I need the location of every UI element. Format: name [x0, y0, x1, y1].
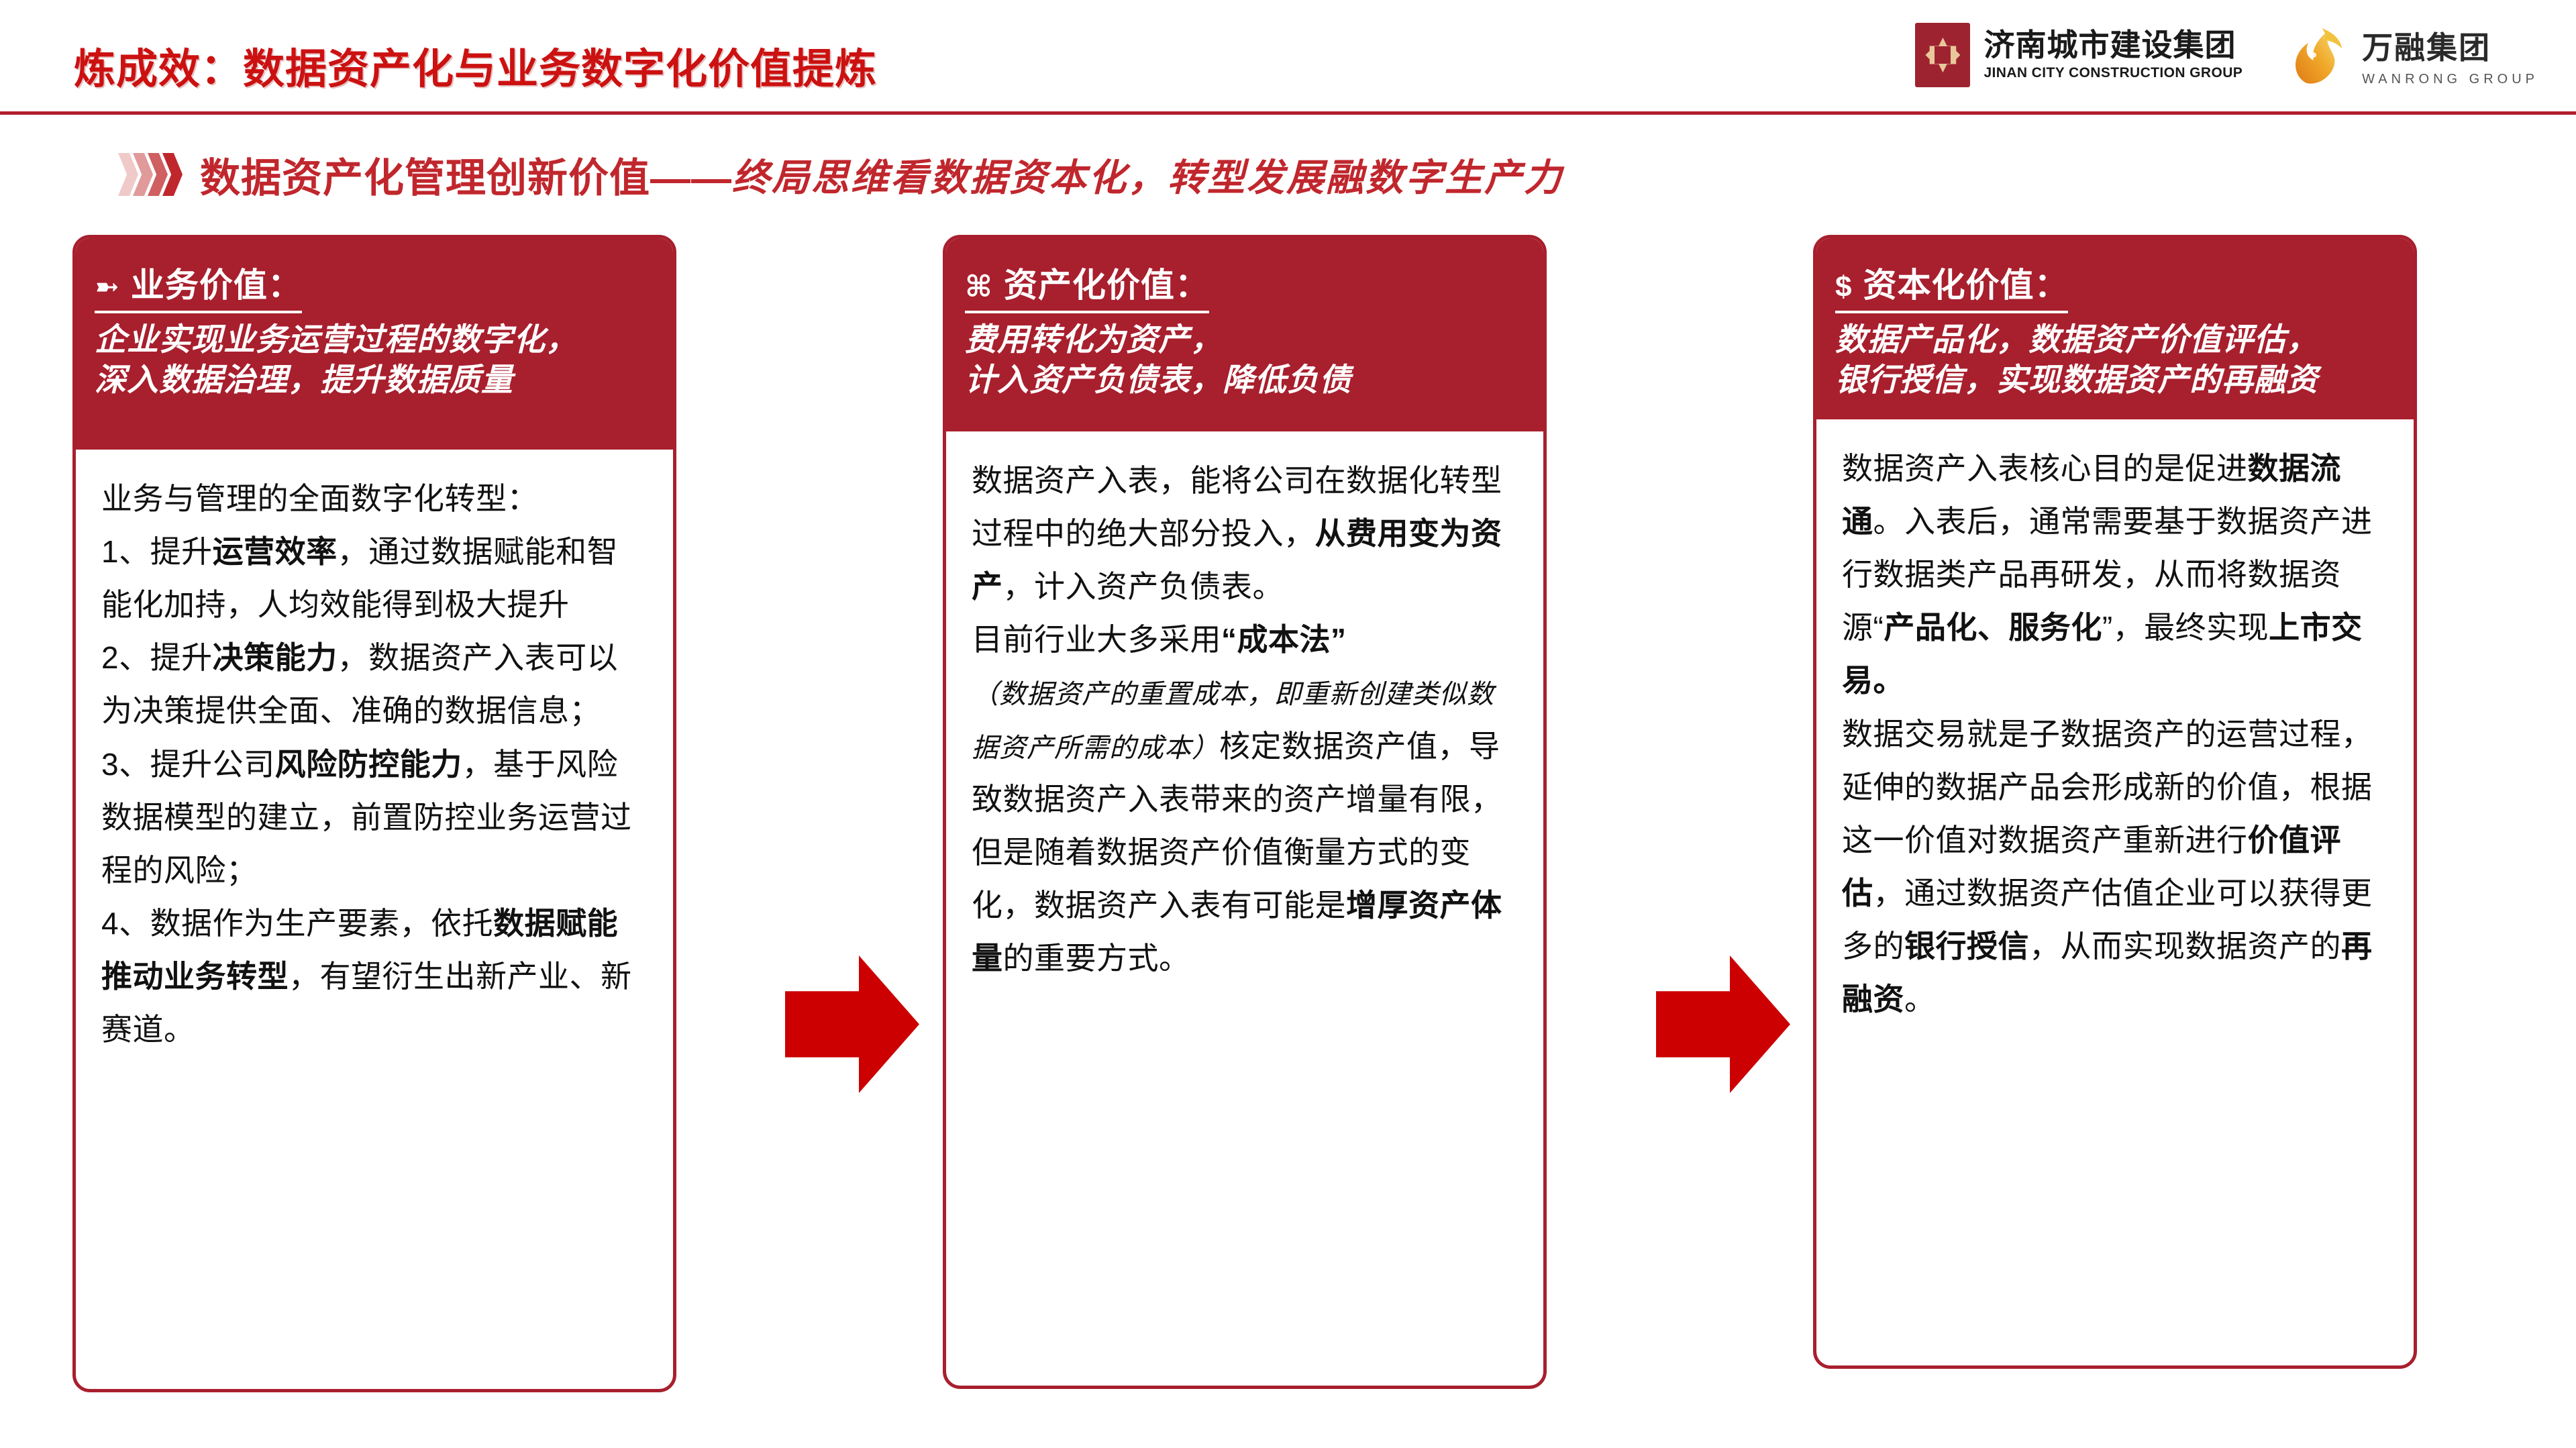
- card-body-capitalization-value: 数据资产入表核心目的是促进数据流通。入表后，通常需要基于数据资产进行数据类产品再…: [1816, 419, 2414, 1039]
- header-divider: [0, 111, 2576, 115]
- card-subtitle-business-value: 企业实现业务运营过程的数字化，深入数据治理，提升数据质量: [95, 320, 654, 401]
- slide-header: 炼成效：数据资产化与业务数字化价值提炼 济南城市建设集团 JINAN CITY …: [0, 0, 2576, 113]
- emphasis-text: 银行授信: [1904, 929, 2029, 964]
- page-title: 炼成效：数据资产化与业务数字化价值提炼: [74, 35, 877, 95]
- card-body-business-value: 业务与管理的全面数字化转型：1、提升运营效率，通过数据赋能和智能化加持，人均效能…: [76, 450, 673, 1070]
- emphasis-text: 数据赋能推动业务转型: [101, 906, 618, 994]
- card-paragraph: 目前行业大多采用“成本法”: [972, 613, 1518, 666]
- card-paragraph: 4、数据作为生产要素，依托数据赋能推动业务转型，有望衍生出新产业、新赛道。: [101, 897, 648, 1056]
- card-title-text: 业务价值：: [131, 266, 302, 304]
- card-paragraph: 3、提升公司风险防控能力，基于风险数据模型的建立，前置防控业务运营过程的风险；: [101, 738, 648, 897]
- card-title-text: 资产化价值：: [1004, 266, 1209, 304]
- logo-group: 济南城市建设集团 JINAN CITY CONSTRUCTION GROUP: [1915, 23, 2538, 87]
- emphasis-text: 运营效率: [213, 534, 338, 569]
- arrow-dart-icon: ➼: [95, 270, 120, 304]
- card-subtitle-line: 深入数据治理，提升数据质量: [95, 360, 654, 401]
- wanrong-logo-name-cn: 万融集团: [2362, 23, 2538, 68]
- card-subtitle-line: 费用转化为资产，: [965, 320, 1525, 360]
- emphasis-text: 数据流通: [1842, 451, 2341, 539]
- annotation-text: （数据资产的重置成本，即重新创建类似数据资产所需的成本）: [972, 679, 1494, 762]
- card-title-capitalization-value: $资本化价值：: [1835, 258, 2068, 313]
- card-body-assetization-value: 数据资产入表，能将公司在数据化转型过程中的绝大部分投入，从费用变为资产，计入资产…: [946, 431, 1543, 998]
- card-subtitle-line: 企业实现业务运营过程的数字化，: [95, 320, 654, 360]
- jinan-logo-mark-icon: [1915, 23, 1970, 87]
- subtitle-main-text: 数据资产化管理创新价值——: [200, 146, 732, 204]
- emphasis-text: 风险防控能力: [275, 747, 462, 782]
- flow-arrow-1-icon: [785, 955, 919, 1093]
- card-header-assetization-value: ⌘资产化价值： 费用转化为资产，计入资产负债表，降低负债: [946, 238, 1543, 431]
- card-subtitle-line: 数据产品化，数据资产价值评估，: [1835, 320, 2395, 360]
- card-title-assetization-value: ⌘资产化价值：: [965, 258, 1209, 313]
- card-paragraph: 数据资产入表，能将公司在数据化转型过程中的绝大部分投入，从费用变为资产，计入资产…: [972, 454, 1518, 613]
- flow-arrow-2-icon: [1656, 955, 1790, 1093]
- emphasis-text: 增厚资产体量: [972, 888, 1502, 976]
- card-subtitle-assetization-value: 费用转化为资产，计入资产负债表，降低负债: [965, 320, 1525, 401]
- card-paragraph: （数据资产的重置成本，即重新创建类似数据资产所需的成本）核定数据资产值，导致数据…: [972, 666, 1518, 985]
- card-title-text: 资本化价值：: [1863, 266, 2068, 304]
- card-header-capitalization-value: $资本化价值： 数据产品化，数据资产价值评估，银行授信，实现数据资产的再融资: [1816, 238, 2414, 419]
- dollar-sign-icon: $: [1835, 270, 1852, 304]
- card-capitalization-value: $资本化价值： 数据产品化，数据资产价值评估，银行授信，实现数据资产的再融资 数…: [1813, 235, 2417, 1369]
- card-subtitle-line: 银行授信，实现数据资产的再融资: [1835, 360, 2395, 401]
- card-paragraph: 数据交易就是子数据资产的运营过程，延伸的数据产品会形成新的价值，根据这一价值对数…: [1842, 708, 2388, 1027]
- card-assetization-value: ⌘资产化价值： 费用转化为资产，计入资产负债表，降低负债 数据资产入表，能将公司…: [943, 235, 1547, 1389]
- emphasis-text: 从费用变为资产: [972, 516, 1502, 604]
- wanrong-flame-icon: [2284, 23, 2349, 87]
- card-business-value: ➼业务价值： 企业实现业务运营过程的数字化，深入数据治理，提升数据质量 业务与管…: [72, 235, 676, 1392]
- slide-root: 炼成效：数据资产化与业务数字化价值提炼 济南城市建设集团 JINAN CITY …: [0, 0, 2576, 1448]
- wanrong-logo-name-en: WANRONG GROUP: [2362, 72, 2538, 87]
- card-subtitle-capitalization-value: 数据产品化，数据资产价值评估，银行授信，实现数据资产的再融资: [1835, 320, 2395, 401]
- emphasis-text: “成本法”: [1221, 622, 1347, 657]
- emphasis-text: 决策能力: [213, 640, 338, 675]
- jinan-logo-name-cn: 济南城市建设集团: [1983, 29, 2243, 61]
- card-header-business-value: ➼业务价值： 企业实现业务运营过程的数字化，深入数据治理，提升数据质量: [76, 238, 673, 450]
- command-place-of-interest-icon: ⌘: [965, 270, 993, 304]
- emphasis-text: 产品化、服务化: [1884, 610, 2102, 645]
- card-title-business-value: ➼业务价值：: [95, 258, 302, 313]
- section-subtitle: 数据资产化管理创新价值—— 终局思维看数据资本化，转型发展融数字生产力: [0, 134, 2576, 215]
- card-subtitle-line: 计入资产负债表，降低负债: [965, 360, 1525, 401]
- card-paragraph: 数据资产入表核心目的是促进数据流通。入表后，通常需要基于数据资产进行数据类产品再…: [1842, 442, 2388, 708]
- card-paragraph: 2、提升决策能力，数据资产入表可以为决策提供全面、准确的数据信息；: [101, 631, 648, 737]
- subtitle-sub-text: 终局思维看数据资本化，转型发展融数字生产力: [732, 148, 1563, 202]
- chevron-arrows-icon: [118, 153, 177, 196]
- card-paragraph: 业务与管理的全面数字化转型：: [101, 472, 648, 525]
- logo-wanrong-group: 万融集团 WANRONG GROUP: [2284, 23, 2538, 87]
- emphasis-text: 价值评估: [1842, 823, 2341, 911]
- card-paragraph: 1、提升运营效率，通过数据赋能和智能化加持，人均效能得到极大提升: [101, 525, 648, 631]
- jinan-logo-name-en: JINAN CITY CONSTRUCTION GROUP: [1983, 65, 2243, 81]
- logo-jinan-city-construction-group: 济南城市建设集团 JINAN CITY CONSTRUCTION GROUP: [1915, 23, 2243, 87]
